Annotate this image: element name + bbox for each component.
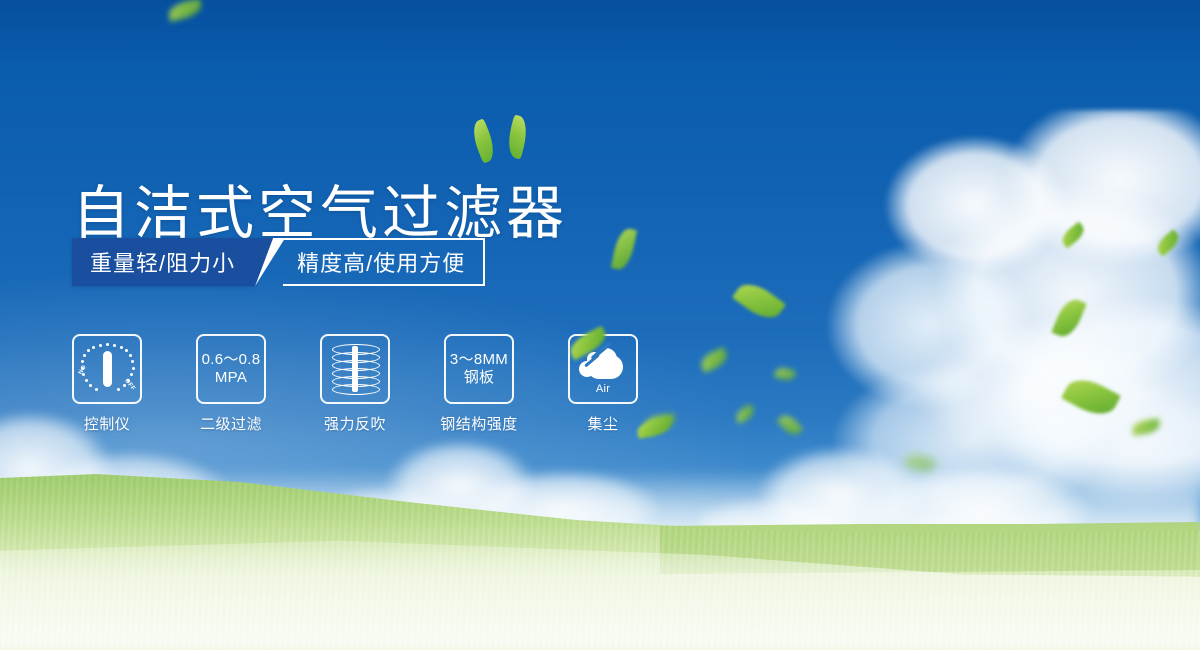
feature-icon-box: 3〜8MM 钢板 — [444, 334, 514, 404]
subtitle-right: 精度高/使用方便 — [283, 238, 485, 286]
gauge-icon: NO OFF — [80, 342, 134, 396]
gauge-off-label: OFF — [123, 378, 136, 392]
steel-material: 钢板 — [464, 369, 495, 387]
feature-label: 钢结构强度 — [440, 413, 518, 434]
feature-icon-box — [320, 334, 390, 404]
subtitle-bar: 重量轻/阻力小 精度高/使用方便 — [72, 238, 485, 286]
air-label: Air — [577, 383, 629, 395]
pressure-unit: MPA — [215, 369, 247, 387]
pressure-value: 0.6〜0.8 — [202, 351, 261, 369]
feature-item-filter[interactable]: 0.6〜0.8 MPA 二级过滤 — [196, 334, 266, 434]
sprout-leaf-right — [504, 115, 531, 160]
feature-item-control[interactable]: NO OFF 控制仪 — [72, 334, 142, 434]
feature-label: 强力反吹 — [324, 413, 386, 434]
feature-label: 集尘 — [587, 413, 618, 434]
gauge-on-label: NO — [78, 364, 88, 375]
gauge-needle — [103, 351, 112, 387]
feature-item-steel[interactable]: 3〜8MM 钢板 钢结构强度 — [444, 334, 514, 434]
floating-leaf — [636, 417, 672, 439]
coil-filter-icon — [332, 344, 378, 394]
feature-item-blowback[interactable]: 强力反吹 — [320, 334, 390, 434]
subtitle-left: 重量轻/阻力小 — [72, 238, 255, 286]
steel-thickness: 3〜8MM — [450, 351, 508, 369]
page-title: 自洁式空气过滤器 — [72, 185, 568, 243]
subtitle-divider — [255, 238, 285, 286]
feature-label: 控制仪 — [84, 413, 131, 434]
feature-icon-box: 0.6〜0.8 MPA — [196, 334, 266, 404]
feature-list: NO OFF 控制仪 0.6〜0.8 MPA 二级过滤 — [72, 334, 638, 434]
sprout-leaf-left — [468, 118, 499, 163]
feature-label: 二级过滤 — [200, 413, 262, 434]
product-banner: 自洁式空气过滤器 重量轻/阻力小 精度高/使用方便 — [0, 0, 1200, 650]
feature-icon-box: NO OFF — [72, 334, 142, 404]
